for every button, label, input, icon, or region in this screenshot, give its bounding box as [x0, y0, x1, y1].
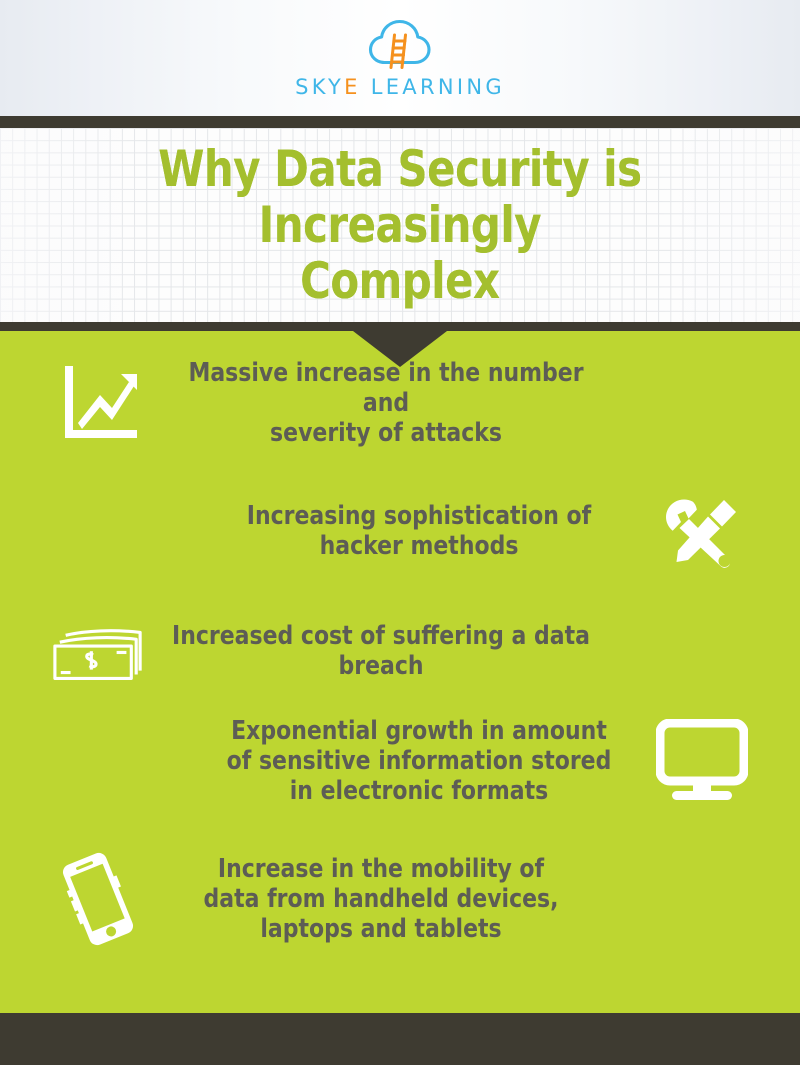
list-item-label: Increased cost of suffering a data breac…	[160, 621, 602, 681]
line-2: of sensitive information stored	[227, 746, 612, 776]
cash-money-stack-icon	[50, 603, 146, 699]
points-list: Massive increase in the number and sever…	[0, 331, 800, 1013]
title-line-3: Complex	[300, 252, 499, 310]
brand-accent-letter: E	[344, 75, 361, 99]
list-item: Increase in the mobility of data from ha…	[50, 851, 750, 947]
list-item-label: Massive increase in the number and sever…	[160, 358, 611, 448]
brand-header: SKYE LEARNING	[0, 0, 800, 116]
line-2: hacker methods	[320, 531, 519, 561]
line-3: in electronic formats	[290, 776, 548, 806]
line-1: Increase in the mobility of	[218, 854, 544, 884]
smartphone-mobile-icon	[50, 851, 146, 947]
title-line-1: Why Data Security is	[158, 140, 641, 198]
line-2: breach	[338, 651, 423, 681]
line-3: laptops and tablets	[260, 914, 501, 944]
brand-prefix: SKY	[295, 75, 344, 99]
list-item: Exponential growth in amount of sensitiv…	[50, 713, 750, 809]
list-item-label: Increasing sophistication of hacker meth…	[198, 501, 640, 561]
cloud-ladder-logo-icon	[367, 18, 433, 70]
infographic-root: SKYE LEARNING Why Data Security is Incre…	[0, 0, 800, 1065]
page-title: Why Data Security is Increasingly Comple…	[121, 141, 679, 309]
brand-wordmark: SKYE LEARNING	[295, 75, 505, 99]
footer-bar	[0, 1013, 800, 1065]
line-1: Increased cost of suffering a data	[172, 621, 590, 651]
list-item: Increasing sophistication of hacker meth…	[50, 483, 750, 579]
line-1: Massive increase in the number and	[188, 358, 583, 418]
title-band: Why Data Security is Increasingly Comple…	[0, 128, 800, 322]
title-divider-bar	[0, 322, 800, 331]
brand-suffix: LEARNING	[361, 75, 505, 99]
list-item: Massive increase in the number and sever…	[50, 355, 750, 451]
line-2: severity of attacks	[270, 418, 502, 448]
list-item-label: Increase in the mobility of data from ha…	[160, 854, 602, 944]
wrench-screwdriver-tools-icon	[654, 483, 750, 579]
downward-arrow-icon	[353, 331, 447, 367]
line-1: Increasing sophistication of	[247, 501, 591, 531]
desktop-monitor-icon	[654, 713, 750, 809]
list-item: Increased cost of suffering a data breac…	[50, 603, 750, 699]
line-2: data from handheld devices,	[204, 884, 559, 914]
list-item-label: Exponential growth in amount of sensitiv…	[198, 716, 640, 806]
title-line-2: Increasingly	[259, 196, 541, 254]
line-1: Exponential growth in amount	[231, 716, 607, 746]
header-divider-bar	[0, 116, 800, 128]
line-chart-growth-icon	[50, 355, 146, 451]
